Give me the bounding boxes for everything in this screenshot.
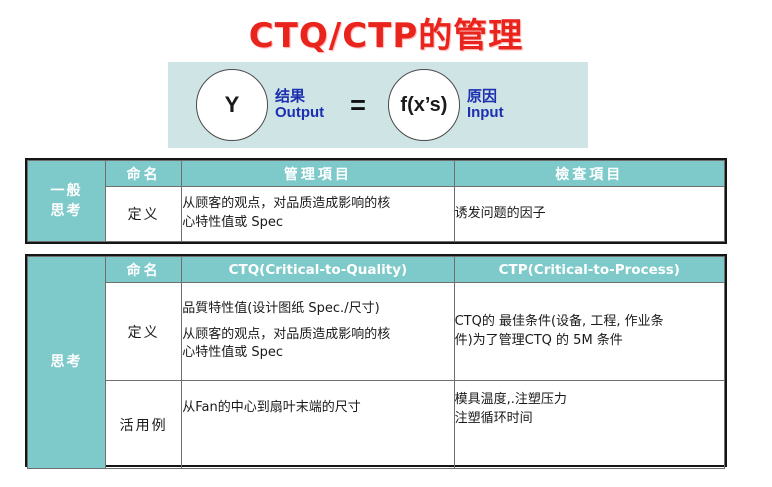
- text-line: 品質特性值(设计图纸 Spec./尺寸): [182, 300, 453, 319]
- table-row: 定义 品質特性值(设计图纸 Spec./尺寸) 从顾客的观点，对品质造成影响的核…: [28, 283, 725, 381]
- input-circle-label: f(x’s): [400, 94, 447, 117]
- text-line: 件)为了管理CTQ 的 5M 条件: [455, 332, 724, 351]
- table-row: 定义 从顾客的观点，对品质造成影响的核 心特性值或 Spec 诱发问题的因子: [28, 187, 725, 242]
- general-cell-management: 从顾客的观点，对品质造成影响的核 心特性值或 Spec: [182, 187, 454, 242]
- ctq-cell-definition-quality: 品質特性值(设计图纸 Spec./尺寸) 从顾客的观点，对品质造成影响的核 心特…: [182, 283, 454, 381]
- output-circle: Y: [196, 69, 268, 141]
- table-row: 一般 思考 命名 管理項目 檢查項目: [28, 161, 725, 187]
- input-circle: f(x’s): [388, 69, 460, 141]
- ctq-row-name-definition: 定义: [106, 283, 182, 381]
- output-label-cn: 结果: [275, 88, 324, 105]
- general-header-inspection-items: 檢查項目: [454, 161, 724, 187]
- ctq-cell-definition-process: CTQ的 最佳条件(设备, 工程, 作业条 件)为了管理CTQ 的 5M 条件: [454, 283, 724, 381]
- output-label-en: Output: [275, 105, 324, 122]
- formula-banner: Y 结果 Output = f(x’s) 原因 Input: [168, 62, 588, 148]
- text-line: CTQ的 最佳条件(设备, 工程, 作业条: [455, 313, 724, 332]
- text-line: 心特性值或 Spec: [182, 344, 453, 363]
- general-side-label-line1: 一般: [28, 181, 105, 201]
- input-label-cn: 原因: [467, 88, 504, 105]
- general-side-label: 一般 思考: [28, 161, 106, 242]
- text-line: 心特性值或 Spec: [182, 214, 453, 233]
- general-row-name-definition: 定义: [106, 187, 182, 242]
- input-label-en: Input: [467, 105, 504, 122]
- general-thinking-table: 一般 思考 命名 管理項目 檢查項目 定义 从顾客的观点，对品质造成影响的核 心…: [25, 158, 727, 244]
- ctq-cell-example-process: 模具温度,.注塑压力 注塑循环时间: [454, 381, 724, 469]
- ctq-header-name: 命名: [106, 257, 182, 283]
- text-line: 从顾客的观点，对品质造成影响的核: [182, 195, 453, 214]
- general-header-name: 命名: [106, 161, 182, 187]
- text-line: 从顾客的观点，对品质造成影响的核: [182, 326, 453, 345]
- text-line: 模具温度,.注塑压力: [455, 391, 724, 410]
- table-row: 活用例 从Fan的中心到扇叶末端的尺寸 模具温度,.注塑压力 注塑循环时间: [28, 381, 725, 469]
- text-line: 诱发问题的因子: [455, 205, 724, 224]
- output-labels: 结果 Output: [275, 88, 324, 122]
- text-line: 从Fan的中心到扇叶末端的尺寸: [182, 399, 453, 418]
- ctq-side-label: 思考: [28, 257, 106, 469]
- ctq-header-quality: CTQ(Critical-to-Quality): [182, 257, 454, 283]
- output-circle-label: Y: [225, 92, 240, 118]
- text-line: 注塑循环时间: [455, 410, 724, 429]
- equals-sign: =: [350, 90, 366, 121]
- ctq-row-name-example: 活用例: [106, 381, 182, 469]
- ctq-header-process: CTP(Critical-to-Process): [454, 257, 724, 283]
- ctq-ctp-table: 思考 命名 CTQ(Critical-to-Quality) CTP(Criti…: [25, 254, 727, 467]
- general-side-label-line2: 思考: [28, 201, 105, 221]
- general-cell-inspection: 诱发问题的因子: [454, 187, 724, 242]
- input-labels: 原因 Input: [467, 88, 504, 122]
- page-title: CTQ/CTP的管理: [0, 8, 772, 57]
- general-header-management-items: 管理項目: [182, 161, 454, 187]
- ctq-cell-example-quality: 从Fan的中心到扇叶末端的尺寸: [182, 381, 454, 469]
- table-row: 思考 命名 CTQ(Critical-to-Quality) CTP(Criti…: [28, 257, 725, 283]
